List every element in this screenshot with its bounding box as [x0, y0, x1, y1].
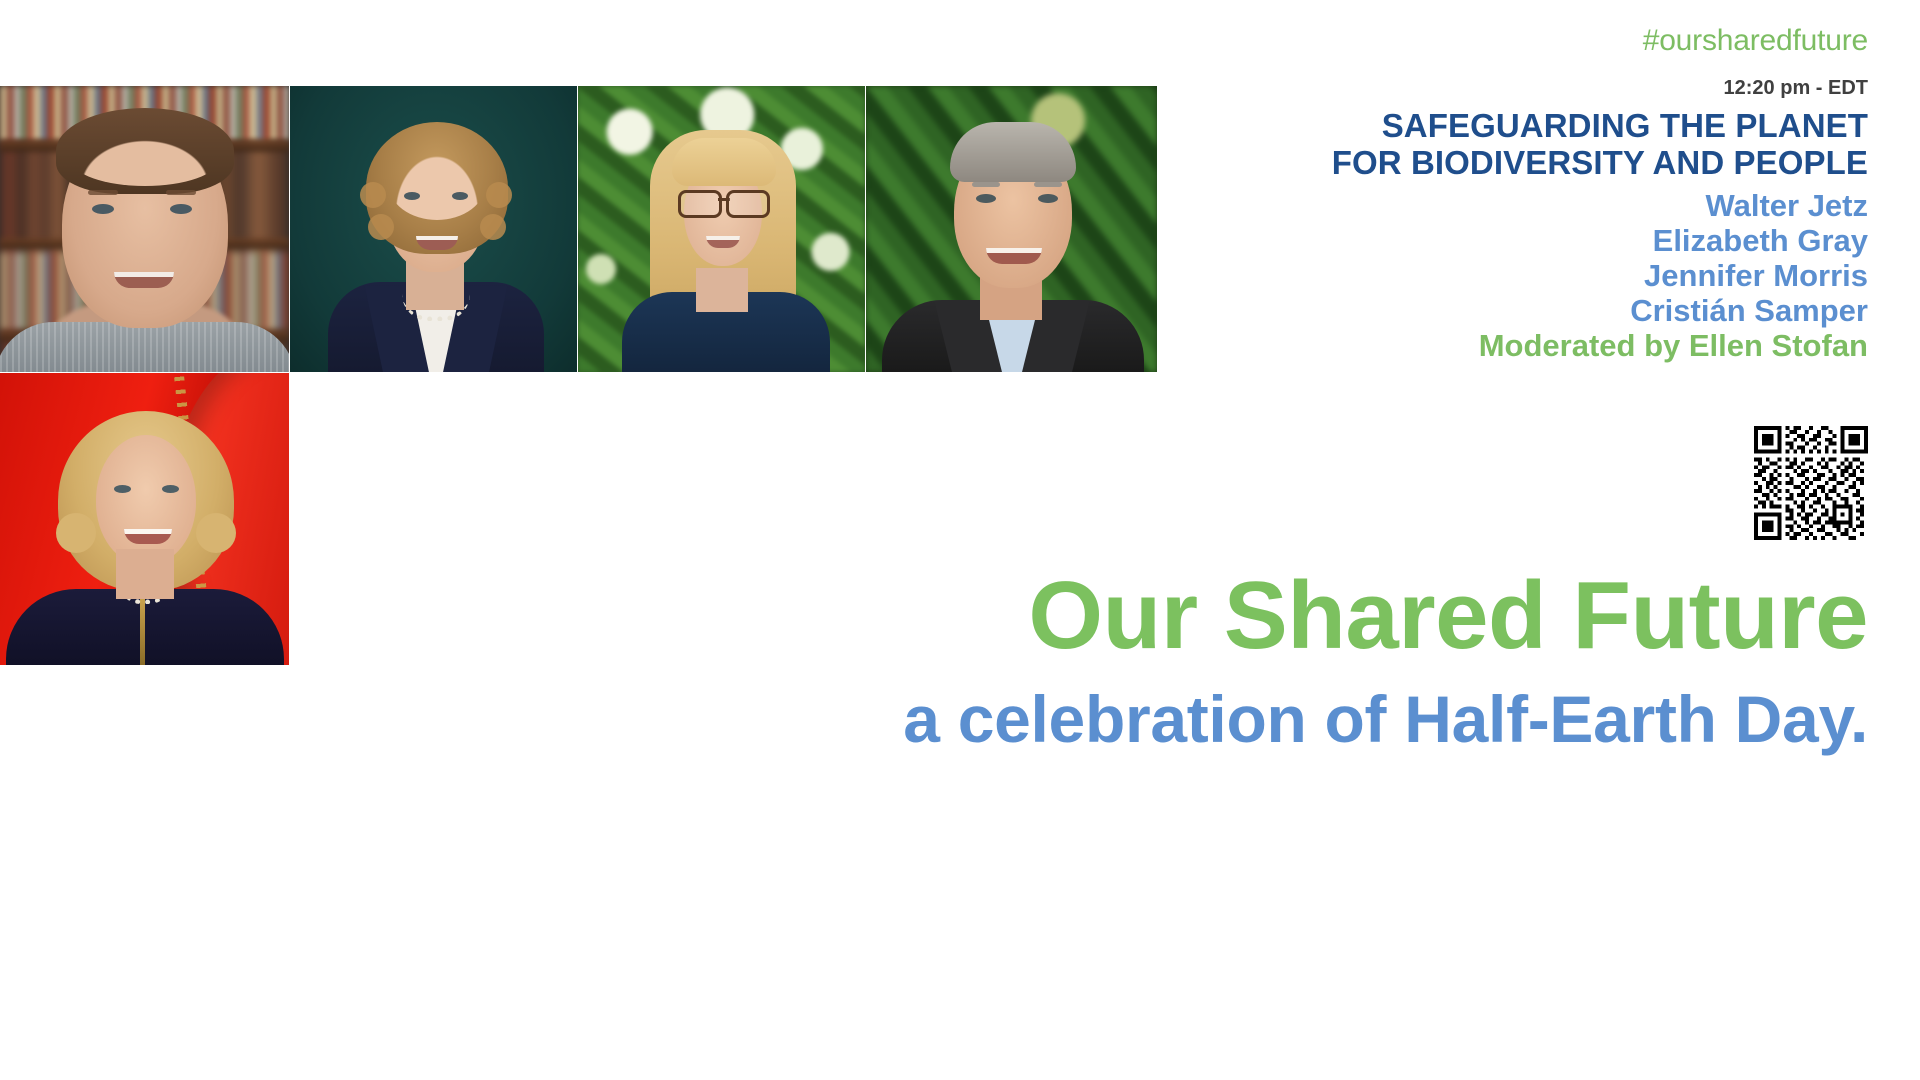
speaker-photo-elizabeth-gray: [290, 86, 577, 372]
glasses-icon: [678, 190, 770, 212]
speaker-name-2: Elizabeth Gray: [888, 223, 1868, 258]
speaker-photo-jennifer-morris: [578, 86, 865, 372]
speaker-photo-ellen-stofan: [0, 373, 289, 665]
session-title: SAFEGUARDING THE PLANET FOR BIODIVERSITY…: [888, 108, 1868, 182]
session-title-line-1: SAFEGUARDING THE PLANET: [888, 108, 1868, 145]
event-subheadline: a celebration of Half-Earth Day.: [668, 686, 1868, 752]
speaker-name-3: Jennifer Morris: [888, 258, 1868, 293]
speaker-name-1: Walter Jetz: [888, 188, 1868, 223]
event-hashtag: #oursharedfuture: [888, 0, 1868, 56]
speaker-photo-walter-jetz: [0, 86, 289, 372]
session-title-line-2: FOR BIODIVERSITY AND PEOPLE: [888, 145, 1868, 182]
session-moderator: Moderated by Ellen Stofan: [888, 328, 1868, 363]
speaker-name-4: Cristián Samper: [888, 293, 1868, 328]
event-headline: Our Shared Future: [668, 568, 1868, 664]
speaker-list: Walter Jetz Elizabeth Gray Jennifer Morr…: [888, 188, 1868, 363]
qr-code[interactable]: [1754, 426, 1868, 540]
session-time: 12:20 pm - EDT: [888, 78, 1868, 98]
event-headline-block: Our Shared Future a celebration of Half-…: [668, 568, 1868, 752]
session-info-panel: #oursharedfuture 12:20 pm - EDT SAFEGUAR…: [888, 0, 1868, 363]
